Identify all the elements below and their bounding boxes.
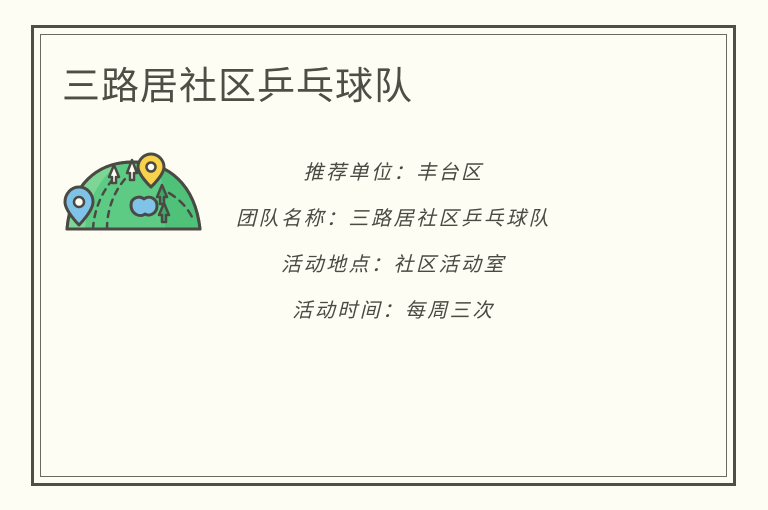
card-content: 三路居社区乒乓球队 [41,35,726,476]
card-inner-border: 三路居社区乒乓球队 [40,34,727,477]
page-title: 三路居社区乒乓球队 [62,67,413,109]
info-line-recommend-unit: 推荐单位：丰台区 [236,149,551,195]
info-block: 推荐单位：丰台区 团队名称：三路居社区乒乓球队 活动地点：社区活动室 活动时间：… [236,143,551,333]
info-line-team-name: 团队名称：三路居社区乒乓球队 [236,195,551,241]
detail-row: 推荐单位：丰台区 团队名称：三路居社区乒乓球队 活动地点：社区活动室 活动时间：… [41,143,726,333]
info-line-activity-time: 活动时间：每周三次 [236,287,551,333]
map-hill-icon [61,149,206,237]
info-card: 三路居社区乒乓球队 [31,25,736,486]
info-line-activity-place: 活动地点：社区活动室 [236,241,551,287]
